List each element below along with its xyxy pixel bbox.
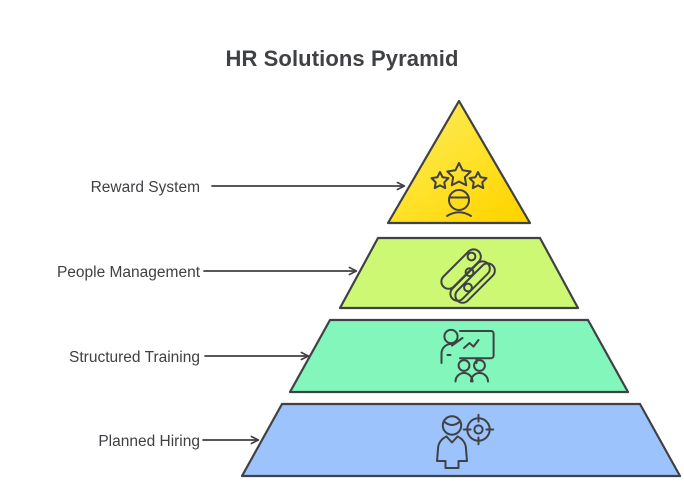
pyramid-diagram: HR Solutions Pyramid Reward System Peopl… (0, 0, 684, 495)
pyramid-tier-planned-hiring[interactable] (242, 404, 680, 476)
pyramid-graphic (0, 0, 684, 495)
tier-shape-trapezoid[interactable] (340, 238, 578, 308)
tier-shape-trapezoid[interactable] (242, 404, 680, 476)
pyramid-tier-structured-training[interactable] (290, 320, 628, 392)
tier-shape-triangle[interactable] (388, 101, 530, 223)
pyramid-tier-reward-system[interactable] (388, 101, 530, 223)
tier-shape-trapezoid[interactable] (290, 320, 628, 392)
pyramid-tier-people-management[interactable] (340, 238, 578, 308)
